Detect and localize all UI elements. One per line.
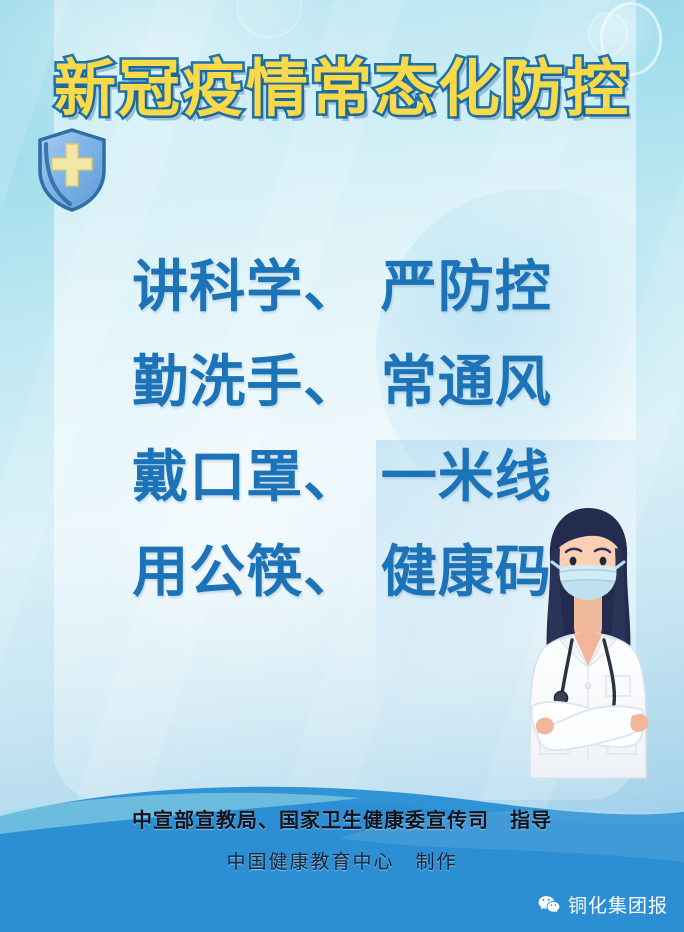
shield-with-cross-icon [36,128,108,212]
credit-guidance-line: 中宣部宣教局、国家卫生健康委宣传司 指导 [0,804,684,833]
female-doctor-with-mask-illustration [492,500,682,790]
watermark-label: 铜化集团报 [568,891,668,918]
slogan-line: 讲科学、 严防控 [0,240,684,335]
slogan-line: 勤洗手、 常通风 [0,335,684,430]
page-title: 新冠疫情常态化防控 [54,58,630,120]
credits-block: 中宣部宣教局、国家卫生健康委宣传司 指导 中国健康教育中心 制作 [0,804,684,874]
watermark: 铜化集团报 [537,891,668,918]
title-row: 新冠疫情常态化防控 [0,58,684,120]
credit-producer-line: 中国健康教育中心 制作 [0,847,684,874]
wechat-icon [537,893,561,917]
poster-canvas: 新冠疫情常态化防控 讲科学、 严防控 勤洗手、 常通风 戴口罩、 一米线 用公筷… [0,0,684,932]
